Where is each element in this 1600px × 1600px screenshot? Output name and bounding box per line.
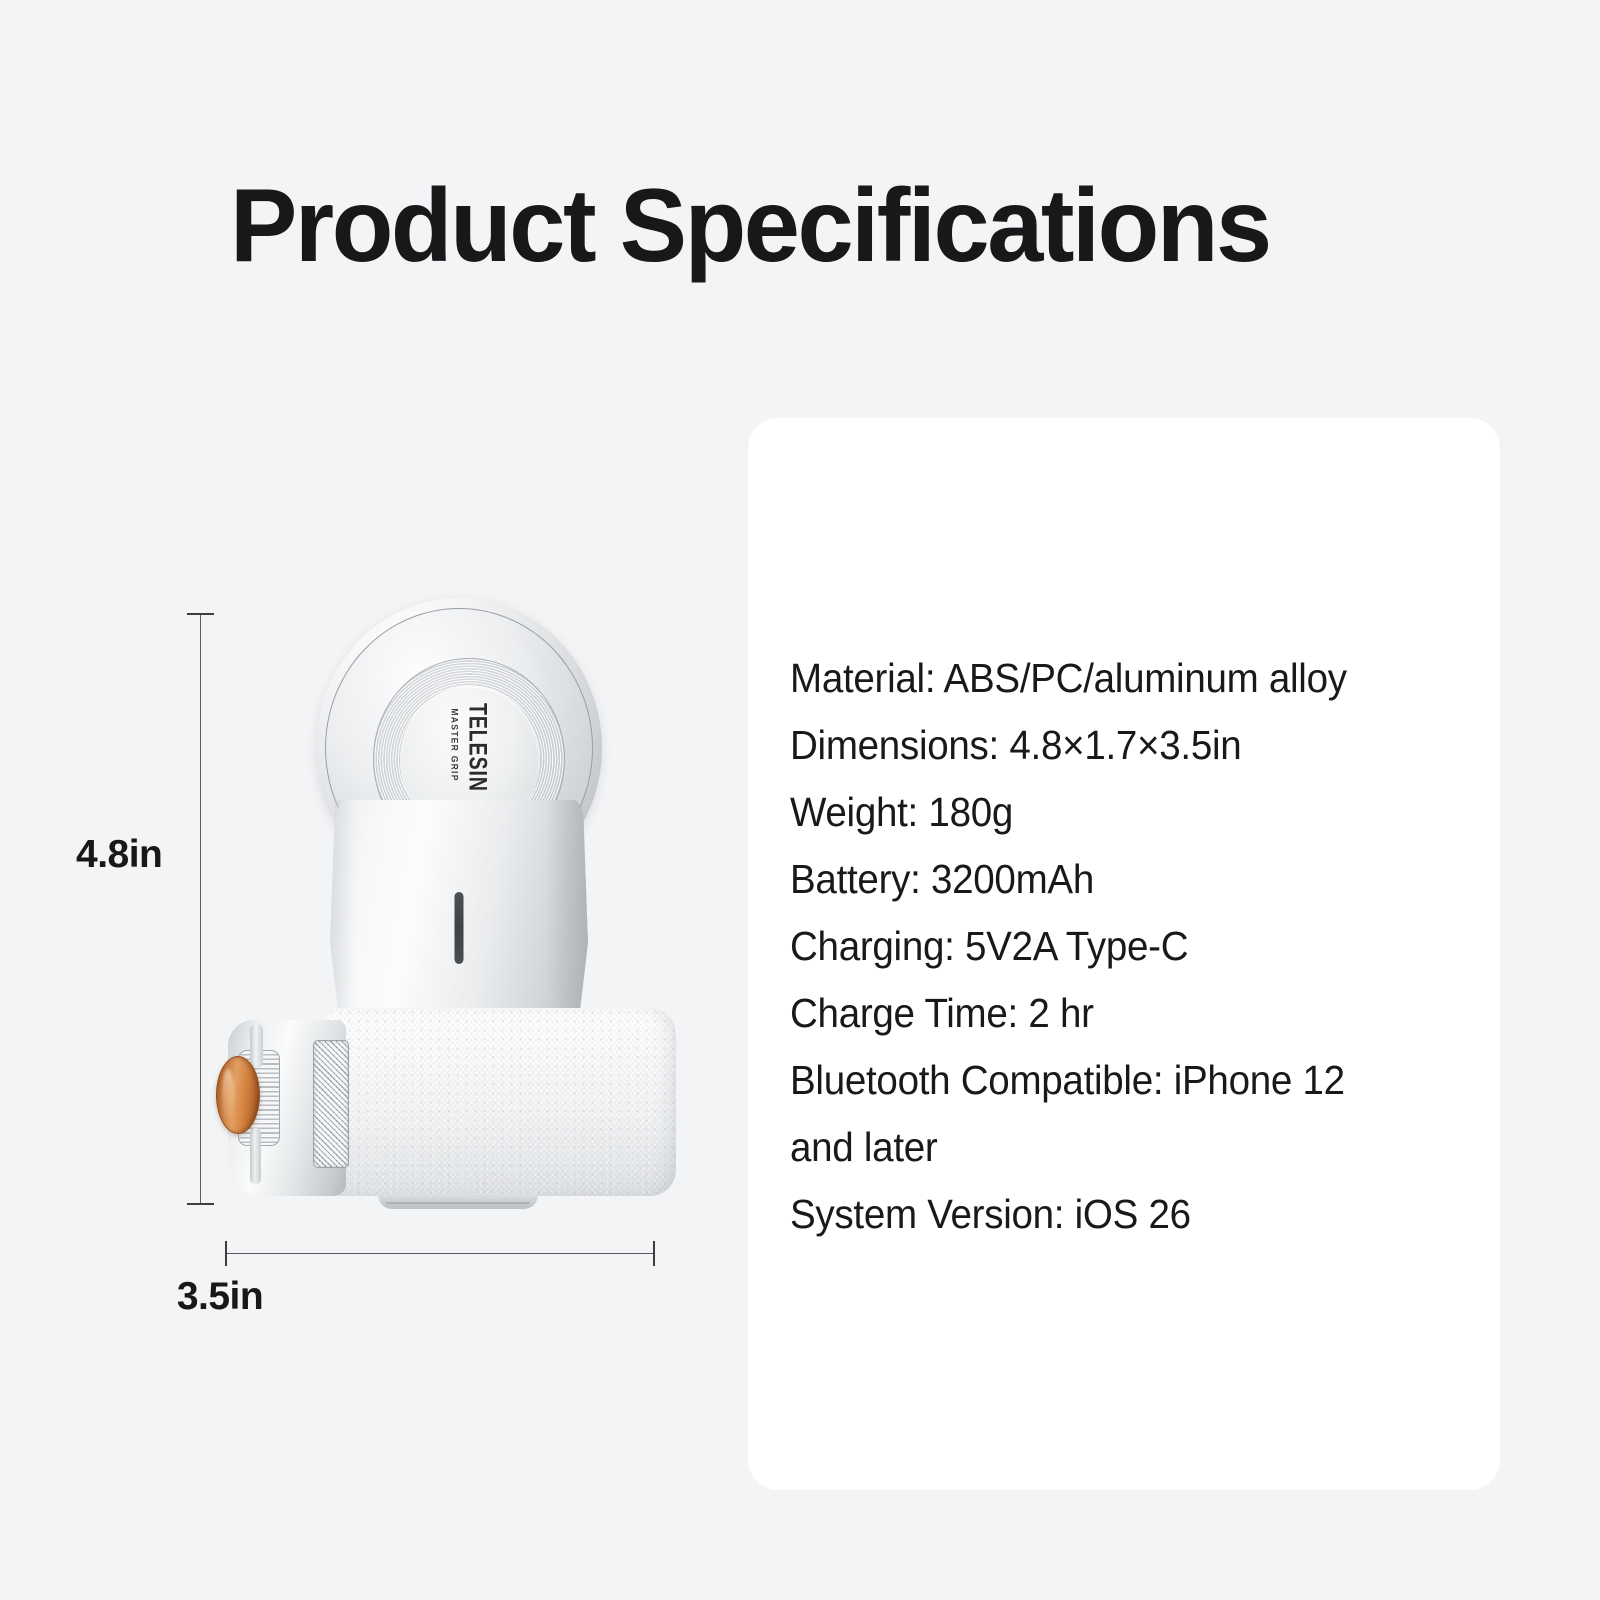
product-illustration: TELESIN MASTER GRIP [0, 0, 760, 1600]
brand-lockup: TELESIN MASTER GRIP [449, 703, 492, 817]
vertical-dimension-label: 4.8in [76, 833, 162, 877]
knurled-texture-panel [313, 1040, 349, 1168]
neck-left-shading [330, 800, 356, 1030]
brand-name: TELESIN [463, 703, 492, 792]
product-neck [330, 800, 588, 1030]
vertical-dimension-line [200, 613, 201, 1205]
brand-tagline: MASTER GRIP [449, 708, 460, 781]
spec-material: Material: ABS/PC/aluminum alloy [790, 645, 1401, 712]
grip-base-seam [386, 1202, 530, 1204]
spec-charging: Charging: 5V2A Type-C [790, 913, 1401, 980]
product-spec-page: Product Specifications TELESIN MASTER GR… [0, 0, 1600, 1600]
spec-system-version: System Version: iOS 26 [790, 1181, 1401, 1248]
neck-right-shading [546, 800, 588, 1030]
spec-dimensions: Dimensions: 4.8×1.7×3.5in [790, 712, 1401, 779]
grip-base-foot [378, 1193, 538, 1209]
copper-dial [216, 1056, 260, 1134]
spec-battery: Battery: 3200mAh [790, 846, 1401, 913]
spec-bluetooth: Bluetooth Compatible: iPhone 12 and late… [790, 1047, 1401, 1181]
product-grip [228, 1008, 676, 1200]
neck-slot [455, 892, 464, 964]
horizontal-dimension-label-text: 3.5in [177, 1275, 263, 1319]
horizontal-dimension-line [225, 1253, 655, 1254]
spec-charge-time: Charge Time: 2 hr [790, 980, 1401, 1047]
copper-dial-highlight [222, 1069, 234, 1119]
dial-lower-stem [250, 1128, 261, 1184]
grip-leather-body [326, 1008, 676, 1196]
specifications-list: Material: ABS/PC/aluminum alloy Dimensio… [790, 645, 1440, 1248]
dial-upper-stem [250, 1024, 263, 1068]
spec-weight: Weight: 180g [790, 779, 1401, 846]
